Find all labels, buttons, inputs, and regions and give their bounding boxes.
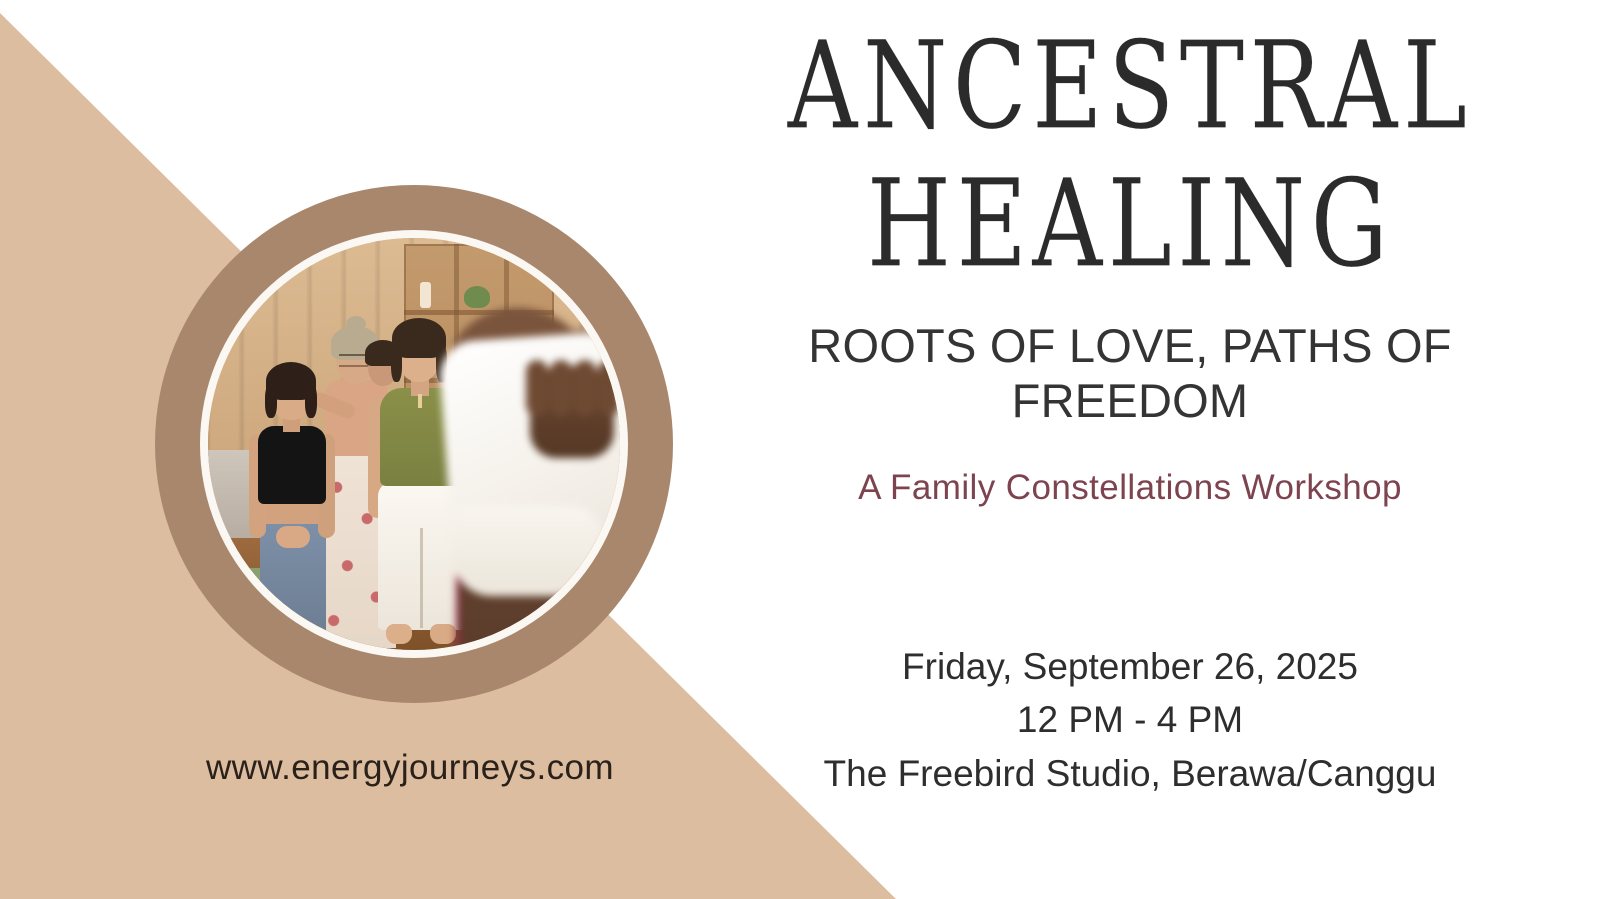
photo-medallion (155, 185, 673, 703)
medallion-inner-gap (200, 230, 628, 658)
event-time: 12 PM - 4 PM (720, 693, 1540, 746)
photo-foreground-white-cloth (452, 506, 602, 596)
website-url[interactable]: www.energyjourneys.com (95, 748, 725, 788)
poster-subtitle: ROOTS OF LOVE, PATHS OF FREEDOM (720, 318, 1540, 429)
event-date: Friday, September 26, 2025 (720, 640, 1540, 693)
event-venue: The Freebird Studio, Berawa/Canggu (720, 747, 1540, 800)
poster-title-line-1: ANCESTRAL (730, 30, 1530, 143)
workshop-photo (208, 238, 620, 650)
poster-tagline: A Family Constellations Workshop (720, 468, 1540, 508)
photo-foreground-finger (550, 360, 572, 416)
event-details: Friday, September 26, 2025 12 PM - 4 PM … (720, 640, 1540, 800)
photo-foreground-figure (208, 238, 620, 650)
poster-title-line-2: HEALING (730, 168, 1530, 281)
photo-foreground-finger (598, 360, 620, 416)
poster-canvas: www.energyjourneys.com ANCESTRAL HEALING… (0, 0, 1599, 899)
photo-foreground-finger (526, 360, 548, 416)
photo-foreground-finger (574, 360, 596, 416)
poster-text-column: ANCESTRAL HEALING ROOTS OF LOVE, PATHS O… (700, 0, 1560, 899)
